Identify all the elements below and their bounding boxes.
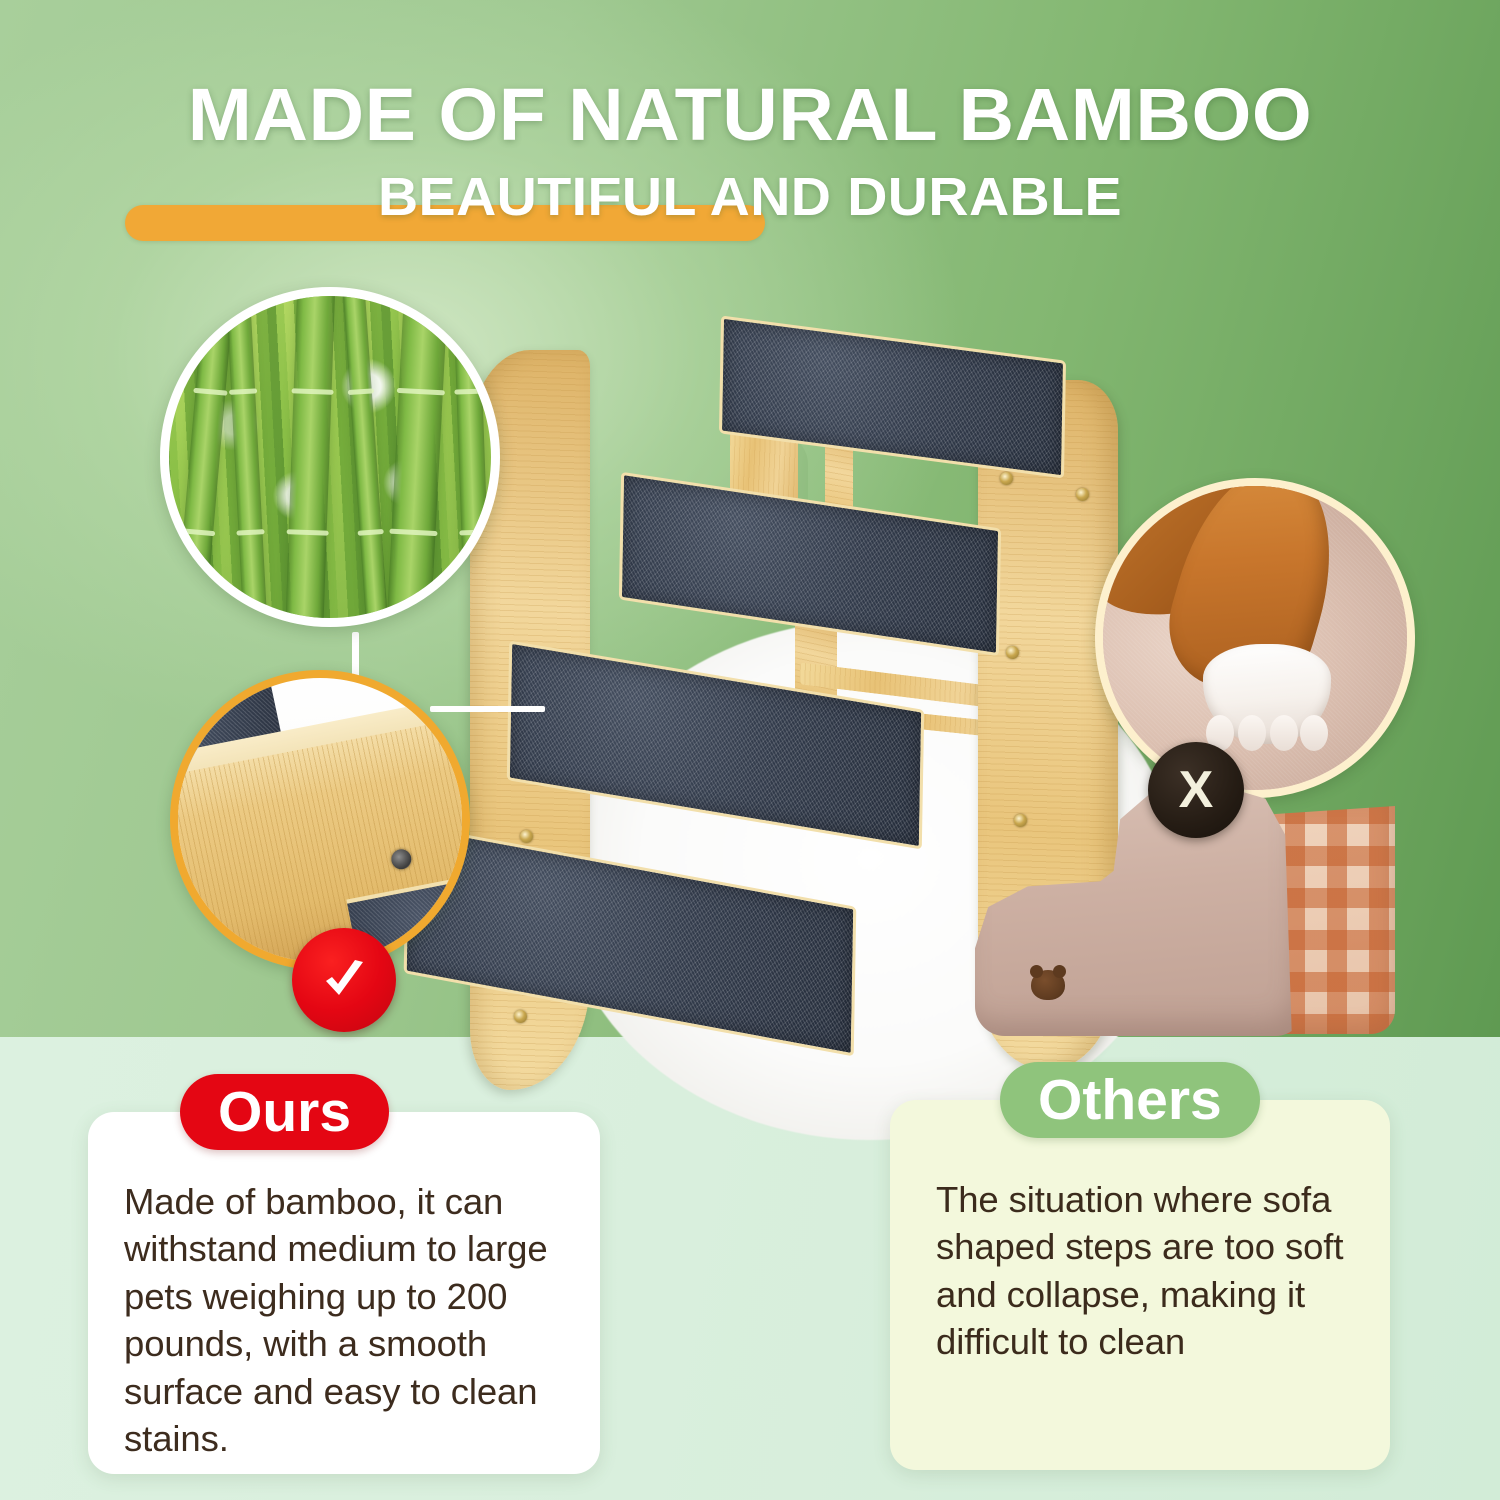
x-badge: X: [1148, 742, 1244, 838]
header-block: MADE OF NATURAL BAMBOO BEAUTIFUL AND DUR…: [0, 78, 1500, 243]
dog-paw: [1203, 644, 1331, 744]
ours-label-pill: Ours: [180, 1074, 389, 1150]
subtitle-row: BEAUTIFUL AND DURABLE: [0, 169, 1500, 243]
infographic-canvas: MADE OF NATURAL BAMBOO BEAUTIFUL AND DUR…: [0, 0, 1500, 1500]
inset-bamboo-edge-detail: [170, 670, 470, 970]
ours-label-text: Ours: [218, 1084, 351, 1141]
others-label-text: Others: [1038, 1072, 1222, 1129]
bamboo-stalk: [341, 287, 391, 627]
paw-toe: [1270, 715, 1298, 751]
page-subtitle: BEAUTIFUL AND DURABLE: [0, 169, 1500, 226]
others-description: The situation where sofa shaped steps ar…: [936, 1176, 1364, 1366]
others-label-pill: Others: [1000, 1062, 1260, 1138]
bamboo-stalk: [284, 287, 336, 627]
sofa-step-body: [975, 778, 1305, 1036]
ours-description: Made of bamboo, it can withstand medium …: [124, 1178, 570, 1463]
screw-icon: [1006, 646, 1019, 659]
bear-face-embroidery-icon: [1031, 970, 1065, 1000]
bamboo-stalk: [224, 287, 269, 627]
screw-icon: [1076, 488, 1089, 501]
comparison-card-ours: Ours Made of bamboo, it can withstand me…: [88, 1112, 600, 1474]
screw-icon: [520, 830, 533, 843]
x-icon: X: [1179, 764, 1214, 816]
inset-dog-paw: [1095, 478, 1415, 798]
screw-icon: [389, 847, 412, 870]
check-icon: [315, 951, 373, 1009]
screw-icon: [514, 1010, 527, 1023]
screw-icon: [1000, 472, 1013, 485]
inset-bamboo-grove: [160, 287, 500, 627]
comparison-card-others: Others The situation where sofa shaped s…: [890, 1100, 1390, 1470]
bamboo-stalk: [384, 287, 449, 627]
check-badge: [292, 928, 396, 1032]
paw-toe: [1238, 715, 1266, 751]
page-title: MADE OF NATURAL BAMBOO: [0, 78, 1500, 152]
